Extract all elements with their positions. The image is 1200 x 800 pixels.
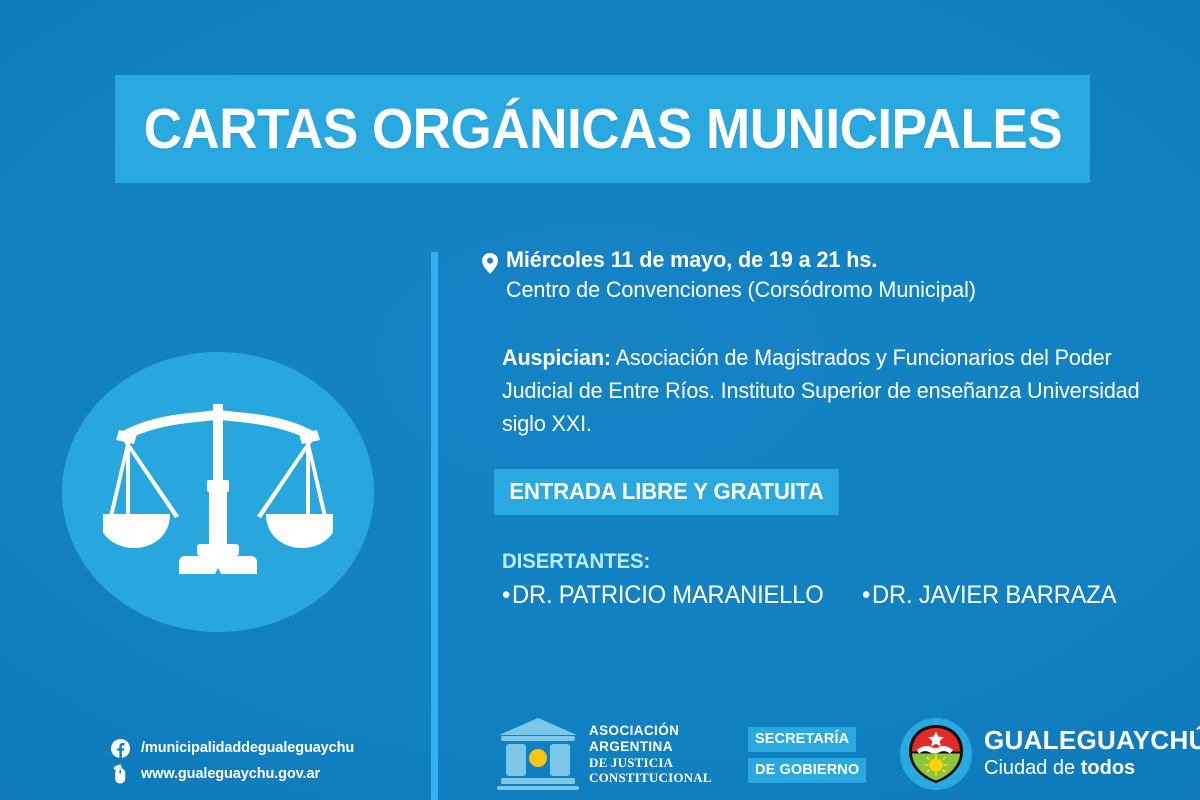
gualeguaychu-crest-icon — [900, 718, 972, 790]
aajc-line-1: ASOCIACIÓN — [589, 723, 712, 739]
social-links: /municipalidaddegualeguaychu www.gualegu… — [110, 735, 354, 787]
facebook-label: /municipalidaddegualeguaychu — [141, 740, 354, 756]
bullet-icon: • — [862, 581, 870, 609]
poster-canvas: CARTAS ORGÁNICAS MUNICIPALES — [0, 0, 1200, 800]
aajc-line-2: ARGENTINA — [589, 739, 712, 755]
facebook-icon — [110, 738, 130, 758]
gualeguaychu-logo: GUALEGUAYCHÚ Ciudad de todos — [900, 718, 1200, 790]
aajc-wordmark: ASOCIACIÓN ARGENTINA DE JUSTICIA CONSTIT… — [589, 723, 712, 786]
aajc-line-4: CONSTITUCIONAL — [589, 770, 712, 785]
list-item: •DR. PATRICIO MARANIELLO — [502, 581, 844, 610]
speakers-heading: DISERTANTES: — [502, 549, 1139, 574]
tagline-strong: todos — [1081, 757, 1135, 779]
gualeguaychu-tagline: Ciudad de todos — [984, 756, 1200, 781]
facebook-link[interactable]: /municipalidaddegualeguaychu — [110, 735, 354, 761]
gualeguaychu-name: GUALEGUAYCHÚ — [984, 727, 1200, 754]
secretaria-line-1: SECRETARÍA — [748, 727, 856, 752]
speakers-list: •DR. PATRICIO MARANIELLO •DR. JAVIER BAR… — [502, 581, 1172, 610]
courthouse-building-icon — [497, 718, 579, 790]
aajc-logo: ASOCIACIÓN ARGENTINA DE JUSTICIA CONSTIT… — [497, 718, 712, 790]
aajc-line-3: DE JUSTICIA — [589, 755, 712, 770]
scales-of-justice-badge — [62, 352, 374, 632]
event-details: Miércoles 11 de mayo, de 19 a 21 hs. Cen… — [482, 246, 1172, 304]
map-pin-icon — [482, 253, 498, 274]
tagline-prefix: Ciudad de — [984, 757, 1081, 779]
page-title: CARTAS ORGÁNICAS MUNICIPALES — [143, 96, 1062, 162]
scales-of-justice-icon — [103, 392, 333, 592]
website-link[interactable]: www.gualeguaychu.gov.ar — [110, 761, 354, 787]
speakers-section: DISERTANTES: •DR. PATRICIO MARANIELLO •D… — [502, 549, 1172, 610]
mouse-cursor-icon — [110, 764, 130, 784]
free-admission-badge: ENTRADA LIBRE Y GRATUITA — [494, 469, 839, 515]
speaker-name: DR. PATRICIO MARANIELLO — [512, 581, 823, 609]
gualeguaychu-wordmark: GUALEGUAYCHÚ Ciudad de todos — [984, 727, 1200, 780]
event-venue: Centro de Convenciones (Corsódromo Munic… — [506, 275, 1145, 305]
secretaria-line-2: DE GOBIERNO — [748, 758, 866, 783]
website-label: www.gualeguaychu.gov.ar — [141, 766, 320, 782]
speaker-name: DR. JAVIER BARRAZA — [872, 581, 1116, 609]
sponsors-paragraph: Auspician: Asociación de Magistrados y F… — [502, 342, 1155, 441]
content-column: Miércoles 11 de mayo, de 19 a 21 hs. Cen… — [482, 246, 1172, 610]
secretaria-badge: SECRETARÍA DE GOBIERNO — [748, 727, 866, 783]
list-item: •DR. JAVIER BARRAZA — [862, 581, 1116, 610]
title-banner: CARTAS ORGÁNICAS MUNICIPALES — [115, 75, 1090, 183]
vertical-divider — [431, 252, 438, 800]
sponsors-label: Auspician: — [502, 345, 611, 370]
event-date: Miércoles 11 de mayo, de 19 a 21 hs. — [506, 246, 1145, 275]
bullet-icon: • — [502, 581, 510, 609]
